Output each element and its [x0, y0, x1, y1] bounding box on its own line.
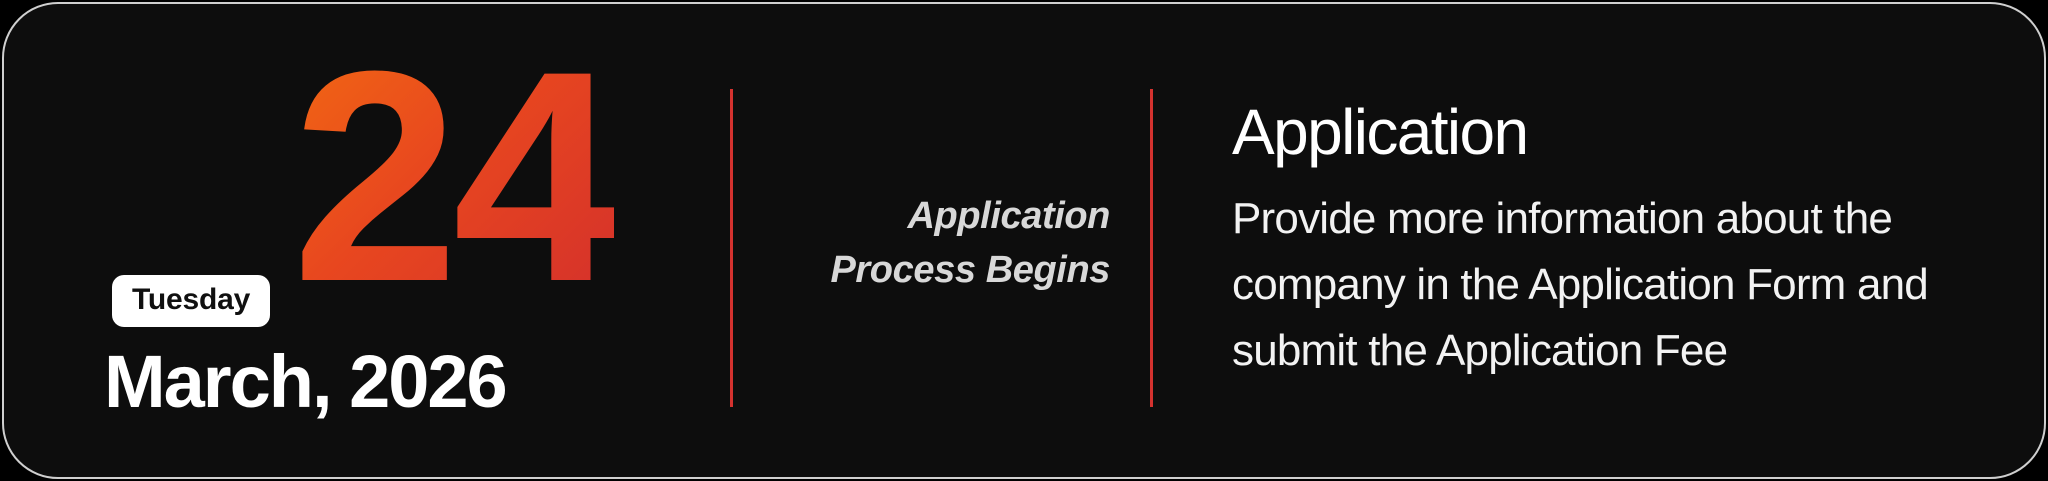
detail-block: Application Provide more information abo…	[1232, 96, 2022, 384]
phase-block: Application Process Begins	[744, 4, 1138, 479]
day-number: 24	[292, 26, 614, 326]
weekday-badge: Tuesday	[112, 275, 270, 327]
phase-label-line-2: Process Begins	[830, 249, 1110, 291]
divider-left	[730, 89, 733, 407]
timeline-event-card: 24 Tuesday March, 2026 Application Proce…	[2, 2, 2046, 479]
date-block: 24 Tuesday March, 2026	[4, 4, 730, 479]
divider-right	[1150, 89, 1153, 407]
detail-title: Application	[1232, 96, 2022, 168]
phase-label: Application Process Begins	[830, 189, 1138, 297]
month-year-label: March, 2026	[104, 341, 506, 423]
detail-description: Provide more information about the compa…	[1232, 186, 2002, 384]
phase-label-line-1: Application	[908, 195, 1111, 237]
